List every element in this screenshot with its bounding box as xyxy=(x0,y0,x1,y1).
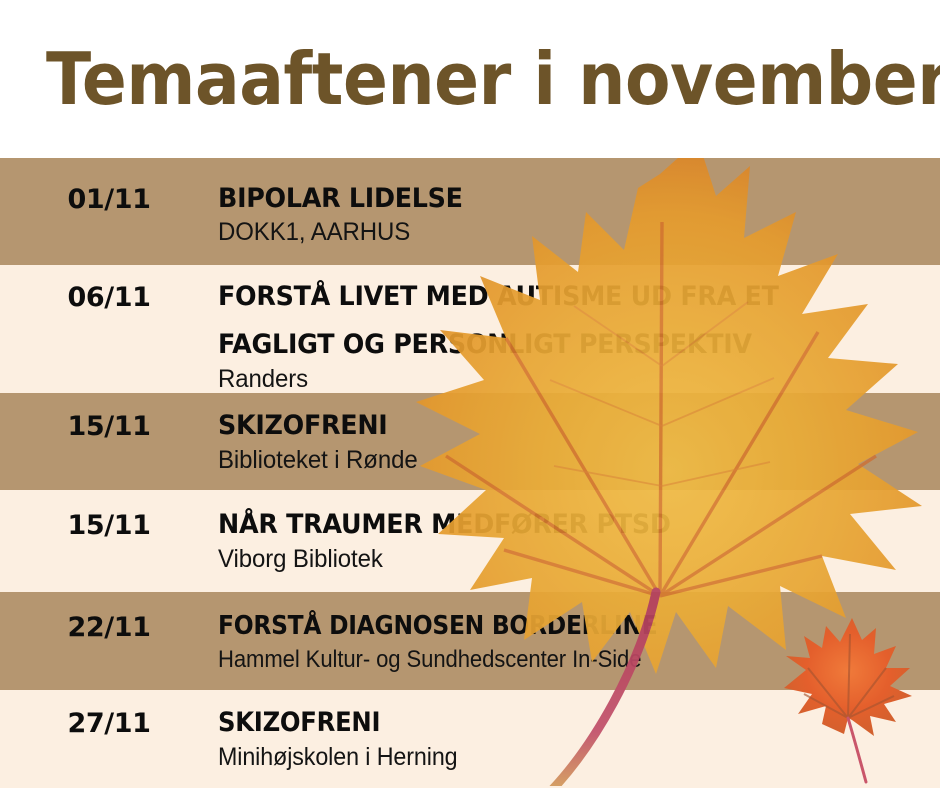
event-body: FORSTÅ LIVET MED AUTISME UD FRA ET FAGLI… xyxy=(218,265,940,393)
event-row[interactable]: 01/11 BIPOLAR LIDELSE DOKK1, AARHUS xyxy=(0,158,940,265)
event-date: 06/11 xyxy=(0,265,218,313)
event-location: Randers xyxy=(218,365,900,394)
page-title: Temaaftener i november xyxy=(46,43,940,115)
event-title: SKIZOFRENI xyxy=(218,690,857,739)
event-row[interactable]: 15/11 NÅR TRAUMER MEDFØRER PTSD Viborg B… xyxy=(0,490,940,592)
poster-canvas: Temaaftener i november 01/11 BIPOLAR LID… xyxy=(0,0,940,788)
event-date: 22/11 xyxy=(0,592,218,643)
event-title: SKIZOFRENI xyxy=(218,393,885,442)
event-location: Biblioteket i Rønde xyxy=(218,446,900,475)
event-row[interactable]: 22/11 FORSTÅ DIAGNOSEN BORDERLINE Hammel… xyxy=(0,592,940,690)
event-location: Minihøjskolen i Herning xyxy=(218,743,878,772)
event-location: DOKK1, AARHUS xyxy=(218,218,900,247)
event-body: SKIZOFRENI Minihøjskolen i Herning xyxy=(218,690,940,772)
event-body: BIPOLAR LIDELSE DOKK1, AARHUS xyxy=(218,158,940,247)
event-date: 01/11 xyxy=(0,158,218,215)
event-body: SKIZOFRENI Biblioteket i Rønde xyxy=(218,393,940,475)
event-row[interactable]: 15/11 SKIZOFRENI Biblioteket i Rønde xyxy=(0,393,940,490)
event-title: BIPOLAR LIDELSE xyxy=(218,158,885,215)
event-row[interactable]: 06/11 FORSTÅ LIVET MED AUTISME UD FRA ET… xyxy=(0,265,940,393)
event-title: FORSTÅ LIVET MED AUTISME UD FRA ET xyxy=(218,265,885,313)
event-location: Hammel Kultur- og Sundhedscenter In-Side xyxy=(218,646,871,674)
event-date: 27/11 xyxy=(0,690,218,739)
event-body: NÅR TRAUMER MEDFØRER PTSD Viborg Bibliot… xyxy=(218,490,940,574)
event-date: 15/11 xyxy=(0,490,218,541)
event-title: FORSTÅ DIAGNOSEN BORDERLINE xyxy=(218,592,857,642)
event-location: Viborg Bibliotek xyxy=(218,545,900,574)
event-title-line2: FAGLIGT OG PERSONLIGT PERSPEKTIV xyxy=(218,313,885,361)
event-date: 15/11 xyxy=(0,393,218,442)
event-body: FORSTÅ DIAGNOSEN BORDERLINE Hammel Kultu… xyxy=(218,592,940,673)
event-title: NÅR TRAUMER MEDFØRER PTSD xyxy=(218,490,885,541)
poster-header: Temaaftener i november xyxy=(0,0,940,158)
event-row[interactable]: 27/11 SKIZOFRENI Minihøjskolen i Herning xyxy=(0,690,940,788)
